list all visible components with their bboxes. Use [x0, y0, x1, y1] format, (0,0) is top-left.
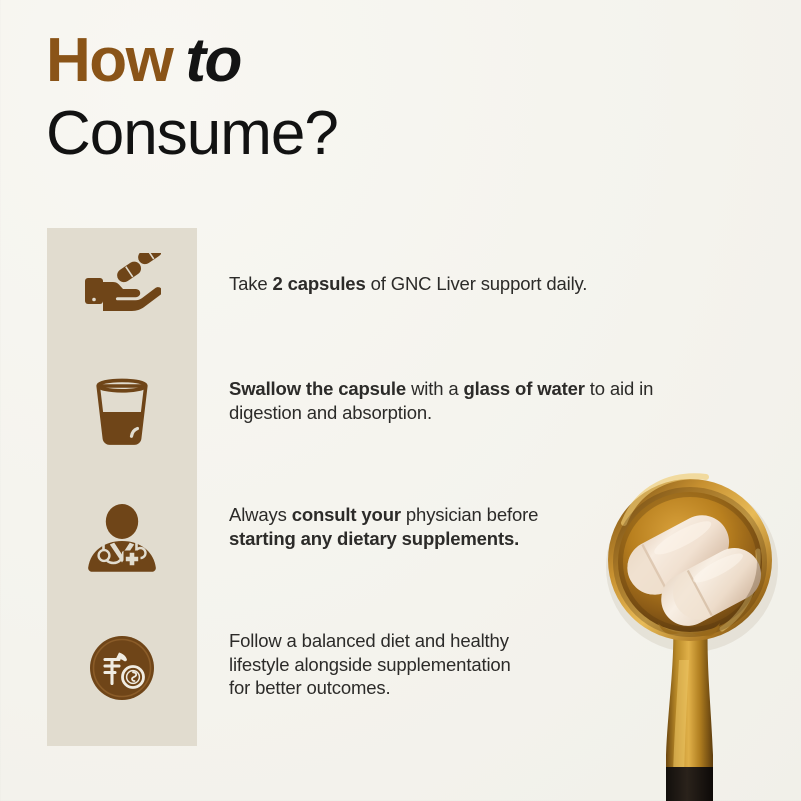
page-title: Howto Consume?	[46, 32, 566, 164]
icon-slot-step-1	[47, 238, 197, 330]
golden-spoon-with-capsules-photo	[580, 455, 801, 801]
doctor-physician-icon	[84, 504, 160, 576]
icon-slot-step-3	[47, 494, 197, 586]
step-text-2: Swallow the capsule with a glass of wate…	[229, 377, 709, 424]
step-text-1: Take 2 capsules of GNC Liver support dai…	[229, 272, 769, 296]
glass-of-water-icon	[91, 376, 153, 448]
medical-cross-icon	[124, 551, 141, 568]
step-text-3: Always consult your physician before sta…	[229, 503, 599, 550]
step-text-4: Follow a balanced diet and healthy lifes…	[229, 629, 579, 700]
step-1-line-1: Take 2 capsules of GNC Liver support dai…	[229, 273, 587, 294]
title-word-to: to	[185, 26, 241, 95]
infographic-page: Howto Consume?	[0, 0, 801, 801]
step-4-line-2: lifestyle alongside supplementation	[229, 653, 579, 677]
step-2-line-1: Swallow the capsule with a glass of wate…	[229, 377, 709, 401]
step-4-line-3: for better outcomes.	[229, 676, 579, 700]
icon-slot-step-2	[47, 366, 197, 458]
icon-panel	[47, 228, 197, 746]
title-line-two: Consume?	[46, 105, 566, 164]
step-3-line-1: Always consult your physician before	[229, 503, 599, 527]
title-word-how: How	[46, 26, 172, 95]
step-4-line-1: Follow a balanced diet and healthy	[229, 629, 579, 653]
step-2-line-2: digestion and absorption.	[229, 401, 709, 425]
icon-slot-step-4	[47, 622, 197, 714]
healthy-diet-badge-icon	[89, 635, 155, 701]
title-word-consume: Consume?	[46, 99, 338, 168]
title-line-one: Howto	[46, 32, 566, 91]
step-3-line-2: starting any dietary supplements.	[229, 527, 599, 551]
hand-holding-capsules-icon	[83, 253, 161, 315]
